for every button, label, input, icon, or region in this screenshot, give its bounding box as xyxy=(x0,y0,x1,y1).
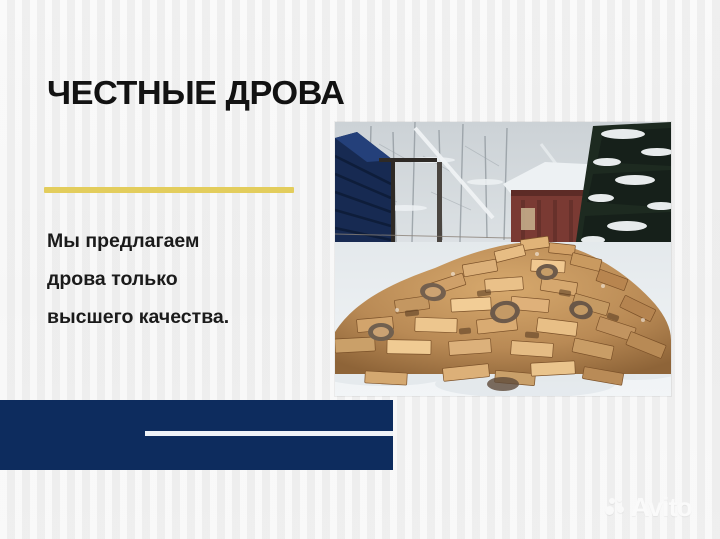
page-title: ЧЕСТНЫЕ ДРОВА xyxy=(47,74,344,112)
body-line-3: высшего качества. xyxy=(47,298,317,336)
body-line-1: Мы предлагаем xyxy=(47,222,317,260)
yellow-divider xyxy=(44,187,294,193)
slide-canvas: ЧЕСТНЫЕ ДРОВА Мы предлагаем дрова только… xyxy=(0,0,720,539)
firewood-photo-illustration xyxy=(335,122,671,396)
avito-watermark-label: Avito xyxy=(631,494,692,520)
avito-dots-logo-icon xyxy=(604,496,626,518)
body-line-2: дрова только xyxy=(47,260,317,298)
navy-bar-white-rule xyxy=(145,431,393,436)
avito-watermark: Avito xyxy=(604,494,692,520)
firewood-photo xyxy=(335,122,671,396)
body-copy: Мы предлагаем дрова только высшего качес… xyxy=(47,222,317,336)
